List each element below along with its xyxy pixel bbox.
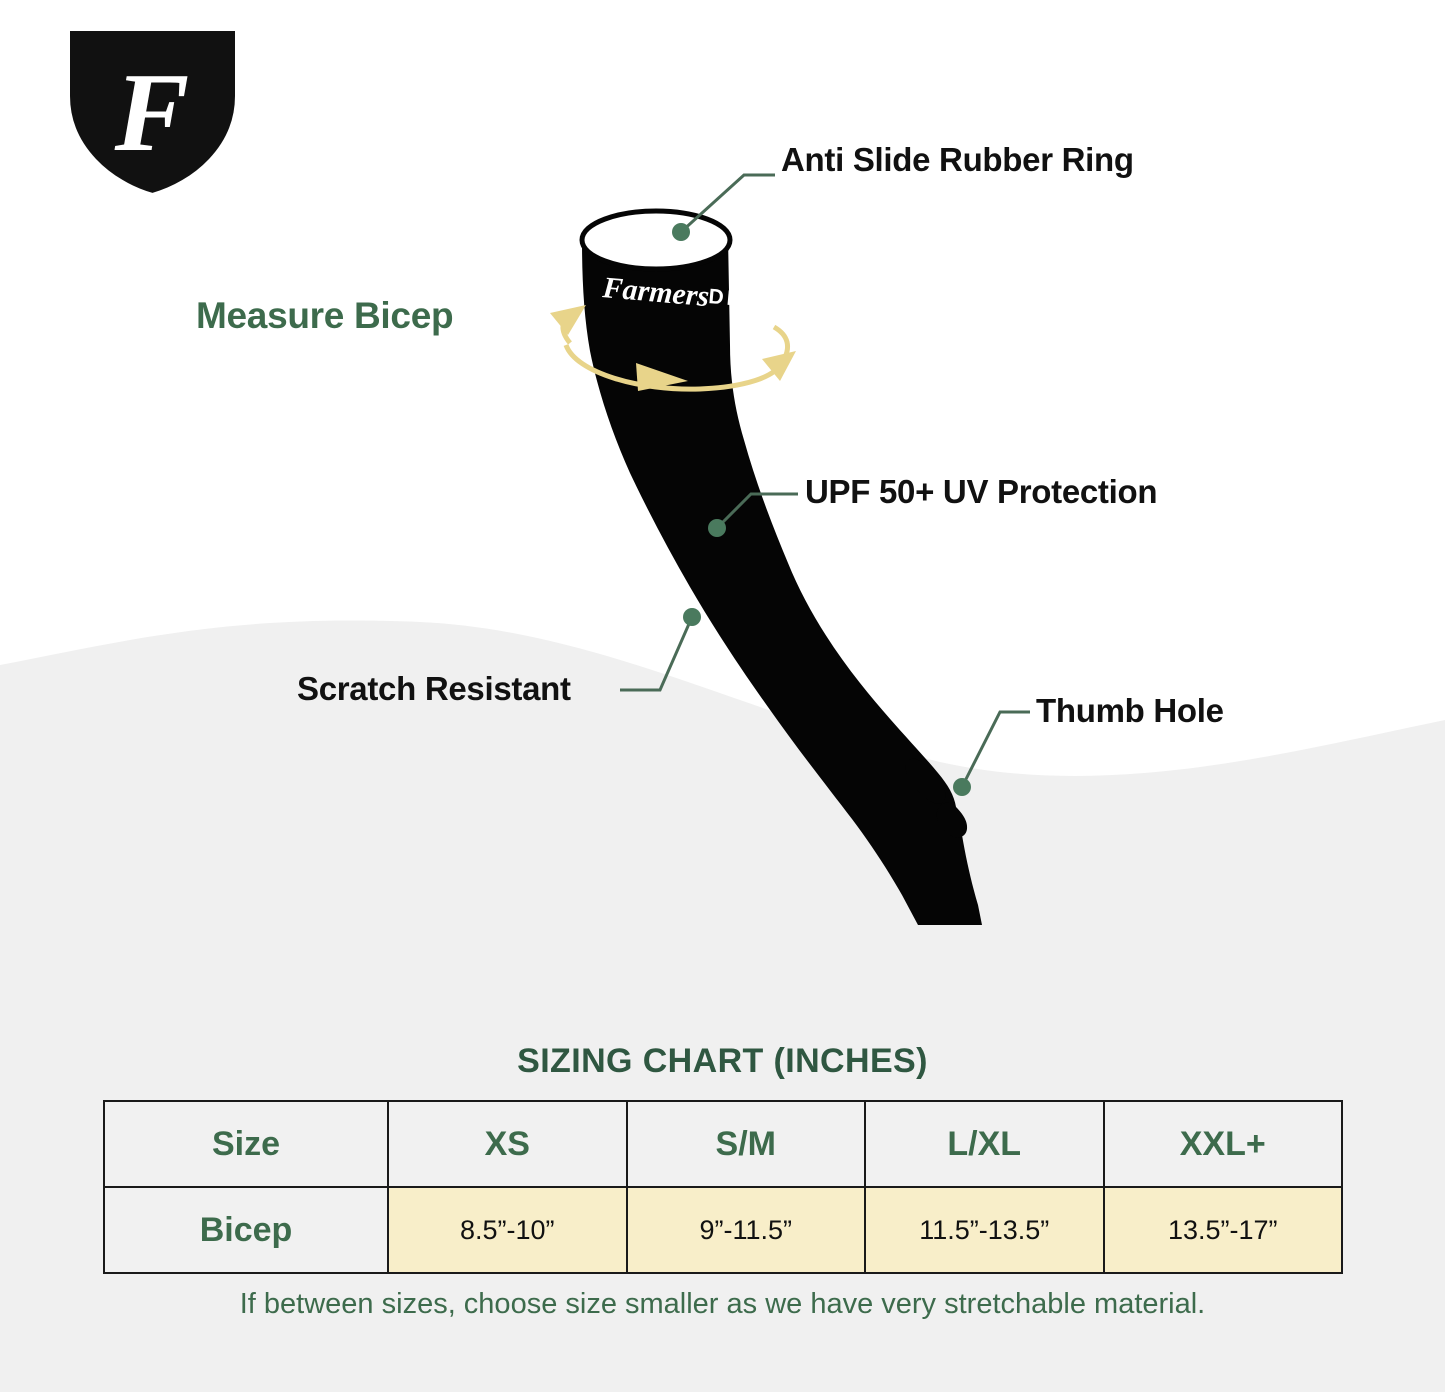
sizing-footer-note: If between sizes, choose size smaller as… (0, 1288, 1445, 1321)
logo-letter: F (114, 51, 190, 175)
header-cell-size: Size (104, 1101, 388, 1187)
sizing-chart-title: SIZING CHART (INCHES) (0, 1042, 1445, 1081)
cell-bicep-xs: 8.5”-10” (388, 1187, 627, 1273)
callout-label-thumb-hole: Thumb Hole (1036, 692, 1224, 730)
cell-bicep-xxl: 13.5”-17” (1104, 1187, 1343, 1273)
cell-bicep-sm: 9”-11.5” (627, 1187, 866, 1273)
header-cell-xs: XS (388, 1101, 627, 1187)
callout-label-upf-protection: UPF 50+ UV Protection (805, 473, 1157, 511)
sizing-chart-table: Size XS S/M L/XL XXL+ Bicep 8.5”-10” 9”-… (103, 1100, 1343, 1274)
cell-bicep-lxl: 11.5”-13.5” (865, 1187, 1104, 1273)
callout-label-anti-slide-rubber-ring: Anti Slide Rubber Ring (781, 141, 1134, 179)
callout-label-measure-bicep: Measure Bicep (196, 295, 453, 337)
arm-sleeve-illustration: Farmers DEFENSE (530, 195, 1050, 935)
header-cell-xxl: XXL+ (1104, 1101, 1343, 1187)
shield-logo-icon: F (55, 18, 250, 203)
table-row: Bicep 8.5”-10” 9”-11.5” 11.5”-13.5” 13.5… (104, 1187, 1342, 1273)
product-infographic: F Farmers DEFENSE (0, 0, 1445, 1392)
header-cell-lxl: L/XL (865, 1101, 1104, 1187)
header-cell-sm: S/M (627, 1101, 866, 1187)
callout-label-scratch-resistant: Scratch Resistant (297, 670, 571, 708)
row-label-bicep: Bicep (104, 1187, 388, 1273)
table-header-row: Size XS S/M L/XL XXL+ (104, 1101, 1342, 1187)
